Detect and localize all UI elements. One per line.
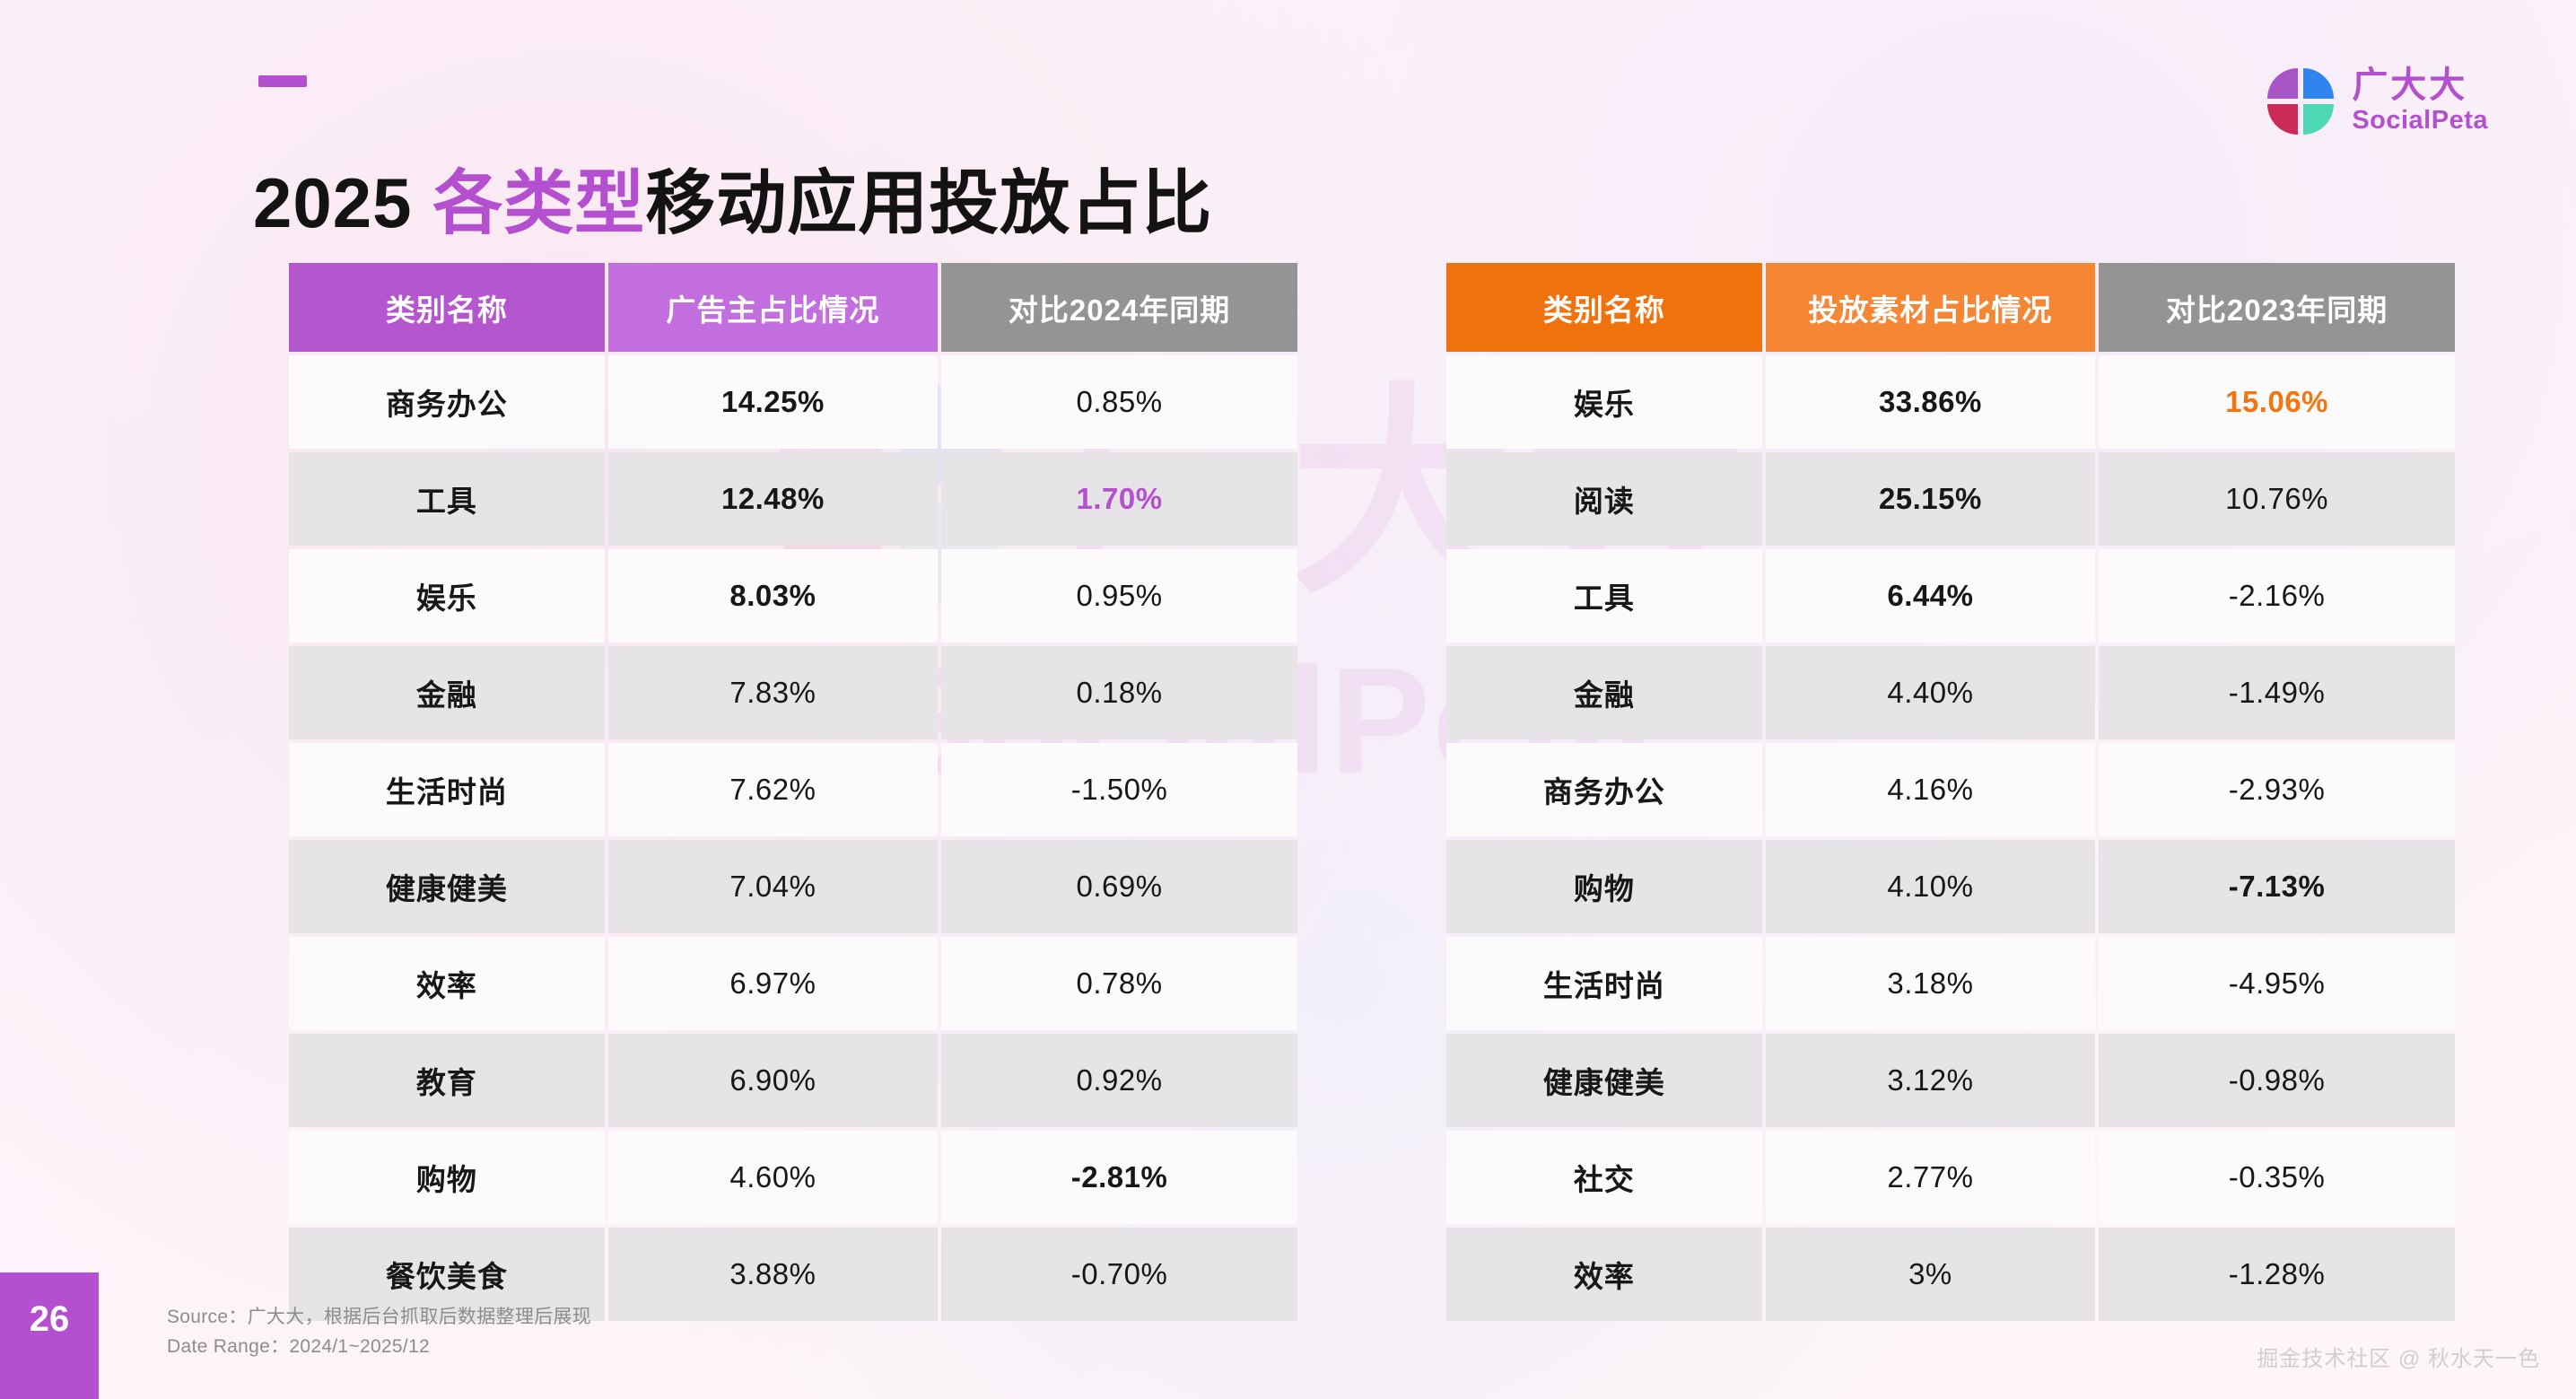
table-body: 娱乐33.86%15.06%阅读25.15%10.76%工具6.44%-2.16…	[1446, 355, 2455, 1321]
cell-yoy: -2.16%	[2099, 549, 2455, 643]
cell-yoy: -4.95%	[2099, 937, 2455, 1030]
logo-cn-text: 广大大	[2352, 66, 2488, 104]
cell-share: 3%	[1766, 1228, 2095, 1321]
advertiser-share-table: 类别名称广告主占比情况对比2024年同期商务办公14.25%0.85%工具12.…	[289, 263, 1297, 1325]
table-row: 生活时尚7.62%-1.50%	[289, 743, 1297, 836]
cell-yoy: -2.81%	[941, 1131, 1297, 1224]
cell-share: 4.60%	[608, 1131, 938, 1224]
table-row: 娱乐8.03%0.95%	[289, 549, 1297, 643]
title-year: 2025	[253, 163, 432, 242]
cell-yoy: -0.35%	[2099, 1131, 2455, 1224]
table-row: 金融4.40%-1.49%	[1446, 646, 2455, 739]
cell-share: 3.18%	[1766, 937, 2095, 1030]
cell-share: 3.12%	[1766, 1034, 2095, 1127]
table-row: 生活时尚3.18%-4.95%	[1446, 937, 2455, 1030]
cell-yoy: 10.76%	[2099, 452, 2455, 546]
source-note: Source：广大大，根据后台抓取后数据整理后展现 Date Range：202…	[167, 1303, 591, 1361]
cell-yoy: -7.13%	[2099, 840, 2455, 933]
table-row: 效率6.97%0.78%	[289, 937, 1297, 1030]
cell-share: 6.44%	[1766, 549, 2095, 643]
cell-yoy: 1.70%	[941, 452, 1297, 546]
table-row: 阅读25.15%10.76%	[1446, 452, 2455, 546]
cell-share: 7.62%	[608, 743, 938, 836]
attribution-watermark: 掘金技术社区 @ 秋水天一色	[2257, 1341, 2540, 1372]
cell-share: 12.48%	[608, 452, 938, 546]
cell-yoy: -1.28%	[2099, 1228, 2455, 1321]
source-line: Source：广大大，根据后台抓取后数据整理后展现	[167, 1303, 591, 1333]
table-row: 购物4.60%-2.81%	[289, 1131, 1297, 1224]
cell-share: 4.16%	[1766, 743, 2095, 836]
table-row: 购物4.10%-7.13%	[1446, 840, 2455, 933]
logo-en-text: SocialPeta	[2352, 106, 2488, 136]
cell-share: 7.04%	[608, 840, 938, 933]
table-row: 健康健美7.04%0.69%	[289, 840, 1297, 933]
table-header-row: 类别名称广告主占比情况对比2024年同期	[289, 263, 1297, 352]
brand-logo: 广大大 SocialPeta	[2267, 66, 2488, 136]
cell-category: 娱乐	[1446, 355, 1762, 449]
cell-category: 金融	[1446, 646, 1762, 739]
cell-category: 生活时尚	[1446, 937, 1762, 1030]
cell-category: 金融	[289, 646, 605, 739]
cell-yoy: 15.06%	[2099, 355, 2455, 449]
table-row: 商务办公14.25%0.85%	[289, 355, 1297, 449]
cell-category: 教育	[289, 1034, 605, 1127]
title-accent-bar	[258, 75, 307, 87]
column-header-1: 广告主占比情况	[608, 263, 938, 352]
cell-share: 6.97%	[608, 937, 938, 1030]
cell-category: 工具	[289, 452, 605, 546]
cell-yoy: -2.93%	[2099, 743, 2455, 836]
cell-yoy: 0.95%	[941, 549, 1297, 643]
cell-yoy: 0.18%	[941, 646, 1297, 739]
cell-share: 2.77%	[1766, 1131, 2095, 1224]
creative-share-table: 类别名称投放素材占比情况对比2023年同期娱乐33.86%15.06%阅读25.…	[1446, 263, 2455, 1325]
date-range-line: Date Range：2024/1~2025/12	[167, 1333, 591, 1362]
cell-yoy: -1.50%	[941, 743, 1297, 836]
cell-yoy: 0.69%	[941, 840, 1297, 933]
table-row: 商务办公4.16%-2.93%	[1446, 743, 2455, 836]
cell-share: 25.15%	[1766, 452, 2095, 546]
cell-yoy: -1.49%	[2099, 646, 2455, 739]
cell-category: 生活时尚	[289, 743, 605, 836]
column-header-2: 对比2023年同期	[2099, 263, 2455, 352]
cell-share: 8.03%	[608, 549, 938, 643]
column-header-0: 类别名称	[1446, 263, 1762, 352]
cell-share: 4.40%	[1766, 646, 2095, 739]
cell-category: 商务办公	[1446, 743, 1762, 836]
cell-category: 效率	[1446, 1228, 1762, 1321]
page-title: 2025 各类型移动应用投放占比	[253, 167, 1212, 240]
title-highlight: 各类型	[432, 163, 645, 242]
table-row: 社交2.77%-0.35%	[1446, 1131, 2455, 1224]
cell-category: 社交	[1446, 1131, 1762, 1224]
petal-logo-icon	[2267, 68, 2334, 135]
table-row: 效率3%-1.28%	[1446, 1228, 2455, 1321]
page-number: 26	[30, 1301, 70, 1337]
cell-category: 工具	[1446, 549, 1762, 643]
table-header: 类别名称投放素材占比情况对比2023年同期	[1446, 263, 2455, 352]
table-row: 教育6.90%0.92%	[289, 1034, 1297, 1127]
cell-yoy: 0.85%	[941, 355, 1297, 449]
column-header-0: 类别名称	[289, 263, 605, 352]
cell-yoy: 0.78%	[941, 937, 1297, 1030]
table-row: 健康健美3.12%-0.98%	[1446, 1034, 2455, 1127]
table-row: 金融7.83%0.18%	[289, 646, 1297, 739]
column-header-2: 对比2024年同期	[941, 263, 1297, 352]
cell-category: 健康健美	[289, 840, 605, 933]
table-row: 工具12.48%1.70%	[289, 452, 1297, 546]
cell-yoy: -0.98%	[2099, 1034, 2455, 1127]
cell-category: 效率	[289, 937, 605, 1030]
cell-share: 3.88%	[608, 1228, 938, 1321]
table-header: 类别名称广告主占比情况对比2024年同期	[289, 263, 1297, 352]
table-row: 娱乐33.86%15.06%	[1446, 355, 2455, 449]
table-row: 工具6.44%-2.16%	[1446, 549, 2455, 643]
cell-category: 阅读	[1446, 452, 1762, 546]
title-rest: 移动应用投放占比	[645, 163, 1212, 242]
cell-yoy: -0.70%	[941, 1228, 1297, 1321]
cell-category: 商务办公	[289, 355, 605, 449]
table-body: 商务办公14.25%0.85%工具12.48%1.70%娱乐8.03%0.95%…	[289, 355, 1297, 1321]
cell-share: 7.83%	[608, 646, 938, 739]
page-number-tab: 26	[0, 1272, 99, 1399]
column-header-1: 投放素材占比情况	[1766, 263, 2095, 352]
cell-yoy: 0.92%	[941, 1034, 1297, 1127]
cell-category: 娱乐	[289, 549, 605, 643]
cell-share: 6.90%	[608, 1034, 938, 1127]
cell-share: 33.86%	[1766, 355, 2095, 449]
cell-share: 4.10%	[1766, 840, 2095, 933]
table-header-row: 类别名称投放素材占比情况对比2023年同期	[1446, 263, 2455, 352]
cell-category: 健康健美	[1446, 1034, 1762, 1127]
cell-share: 14.25%	[608, 355, 938, 449]
cell-category: 购物	[1446, 840, 1762, 933]
cell-category: 购物	[289, 1131, 605, 1224]
